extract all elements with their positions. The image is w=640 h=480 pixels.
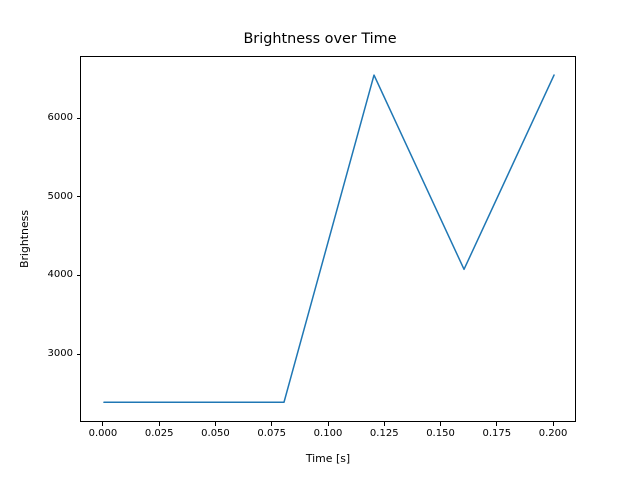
x-tick-mark <box>102 422 103 426</box>
x-tick-label: 0.000 <box>89 428 118 440</box>
x-tick-mark <box>328 422 329 426</box>
x-tick-mark <box>440 422 441 426</box>
chart-title: Brightness over Time <box>0 31 640 48</box>
x-tick-label: 0.175 <box>482 428 511 440</box>
plot-axes-area <box>80 56 576 422</box>
y-tick-label: 5000 <box>48 191 73 203</box>
y-tick-mark <box>77 196 81 197</box>
y-tick-mark <box>77 118 81 119</box>
y-tick-mark <box>77 275 81 276</box>
x-tick-label: 0.125 <box>370 428 399 440</box>
x-tick-mark <box>271 422 272 426</box>
y-axis-label: Brightness <box>18 56 32 422</box>
x-tick-mark <box>553 422 554 426</box>
y-tick-label: 6000 <box>48 112 73 124</box>
brightness-line-series <box>104 75 554 402</box>
x-tick-label: 0.200 <box>539 428 568 440</box>
x-axis-label: Time [s] <box>80 452 576 465</box>
y-tick-label: 3000 <box>48 348 73 360</box>
y-tick-label: 4000 <box>48 269 73 281</box>
x-tick-mark <box>384 422 385 426</box>
x-tick-mark <box>496 422 497 426</box>
x-tick-label: 0.075 <box>257 428 286 440</box>
x-tick-label: 0.025 <box>145 428 174 440</box>
x-tick-label: 0.100 <box>314 428 343 440</box>
x-tick-label: 0.150 <box>426 428 455 440</box>
plot-canvas <box>81 57 577 423</box>
matplotlib-figure: Brightness over Time 0.0000.0250.0500.07… <box>0 0 640 480</box>
y-tick-mark <box>77 354 81 355</box>
x-tick-mark <box>215 422 216 426</box>
x-tick-label: 0.050 <box>201 428 230 440</box>
x-tick-mark <box>159 422 160 426</box>
